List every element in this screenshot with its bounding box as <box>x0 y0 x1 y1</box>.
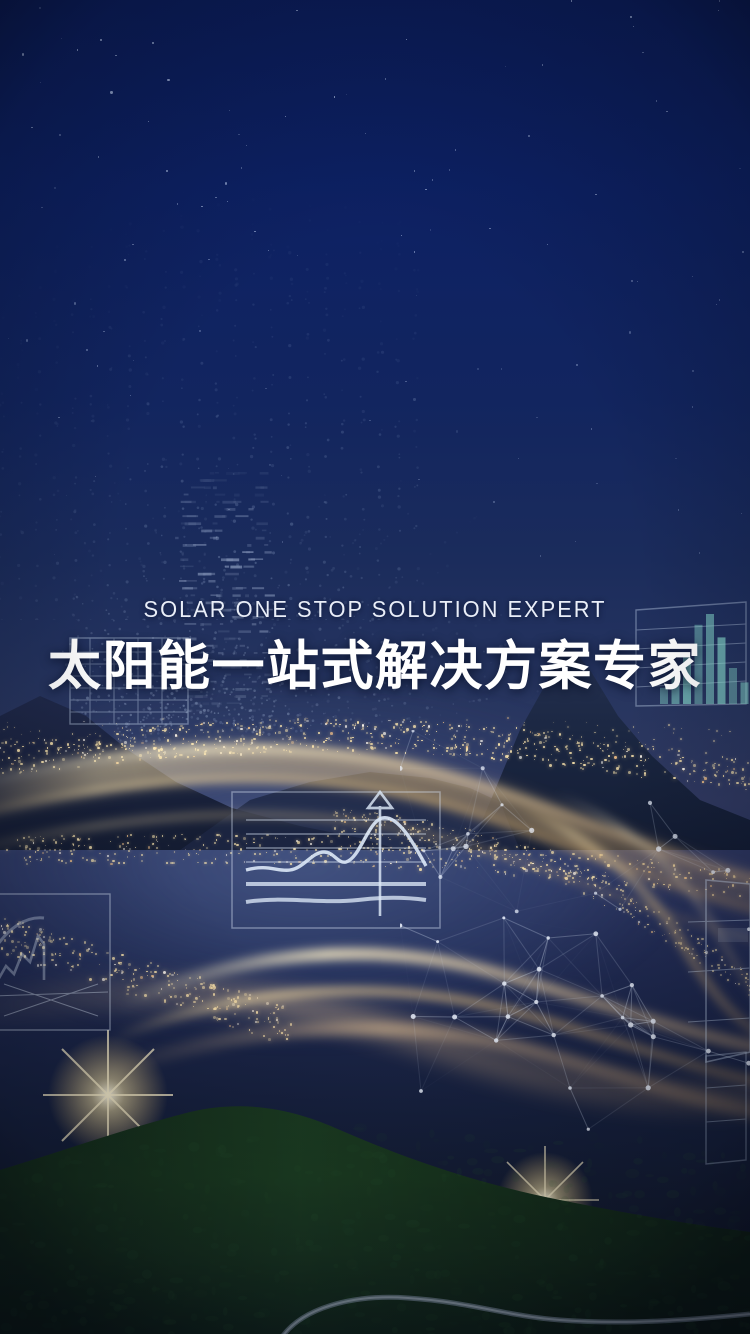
hero-banner: SOLAR ONE STOP SOLUTION EXPERT 太阳能一站式解决方… <box>0 0 750 1334</box>
vignette-overlay <box>0 0 750 1334</box>
